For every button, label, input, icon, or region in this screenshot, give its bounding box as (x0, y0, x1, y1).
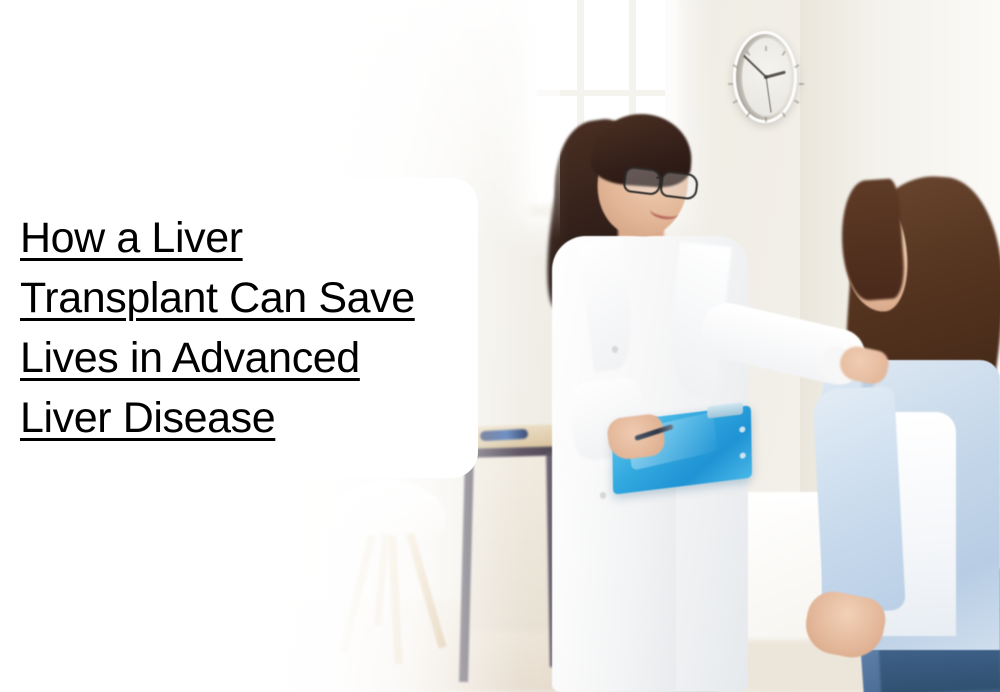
clock-second-hand (765, 77, 771, 113)
glasses-lens (659, 170, 699, 200)
clipboard-rivet (740, 452, 746, 459)
coat-button (612, 346, 618, 352)
window-mullion-horizontal (537, 90, 665, 96)
clipboard-rivet (739, 426, 745, 433)
patient-sleeve (812, 386, 906, 614)
clock-tick (746, 51, 750, 56)
coat-button (600, 492, 606, 498)
page-title: How a Liver Transplant Can Save Lives in… (20, 208, 438, 448)
clock-tick (765, 117, 767, 122)
clock-face (742, 38, 790, 116)
patient-jeans-lower (879, 643, 1000, 692)
clock-tick (728, 83, 733, 85)
clock-tick (782, 51, 786, 56)
title-card: How a Liver Transplant Can Save Lives in… (0, 178, 478, 478)
clock-tick (746, 112, 750, 117)
clock-tick (765, 46, 767, 51)
clock-minute-hand (743, 55, 767, 78)
clock-center-pin (764, 75, 768, 79)
article-hero-banner: How a Liver Transplant Can Save Lives in… (0, 0, 1000, 692)
glasses-lens (623, 166, 663, 196)
wall-clock-icon (733, 31, 797, 123)
clock-tick (799, 83, 804, 85)
clock-hour-hand (766, 71, 786, 79)
doctor-lab-coat-hem (556, 470, 676, 692)
